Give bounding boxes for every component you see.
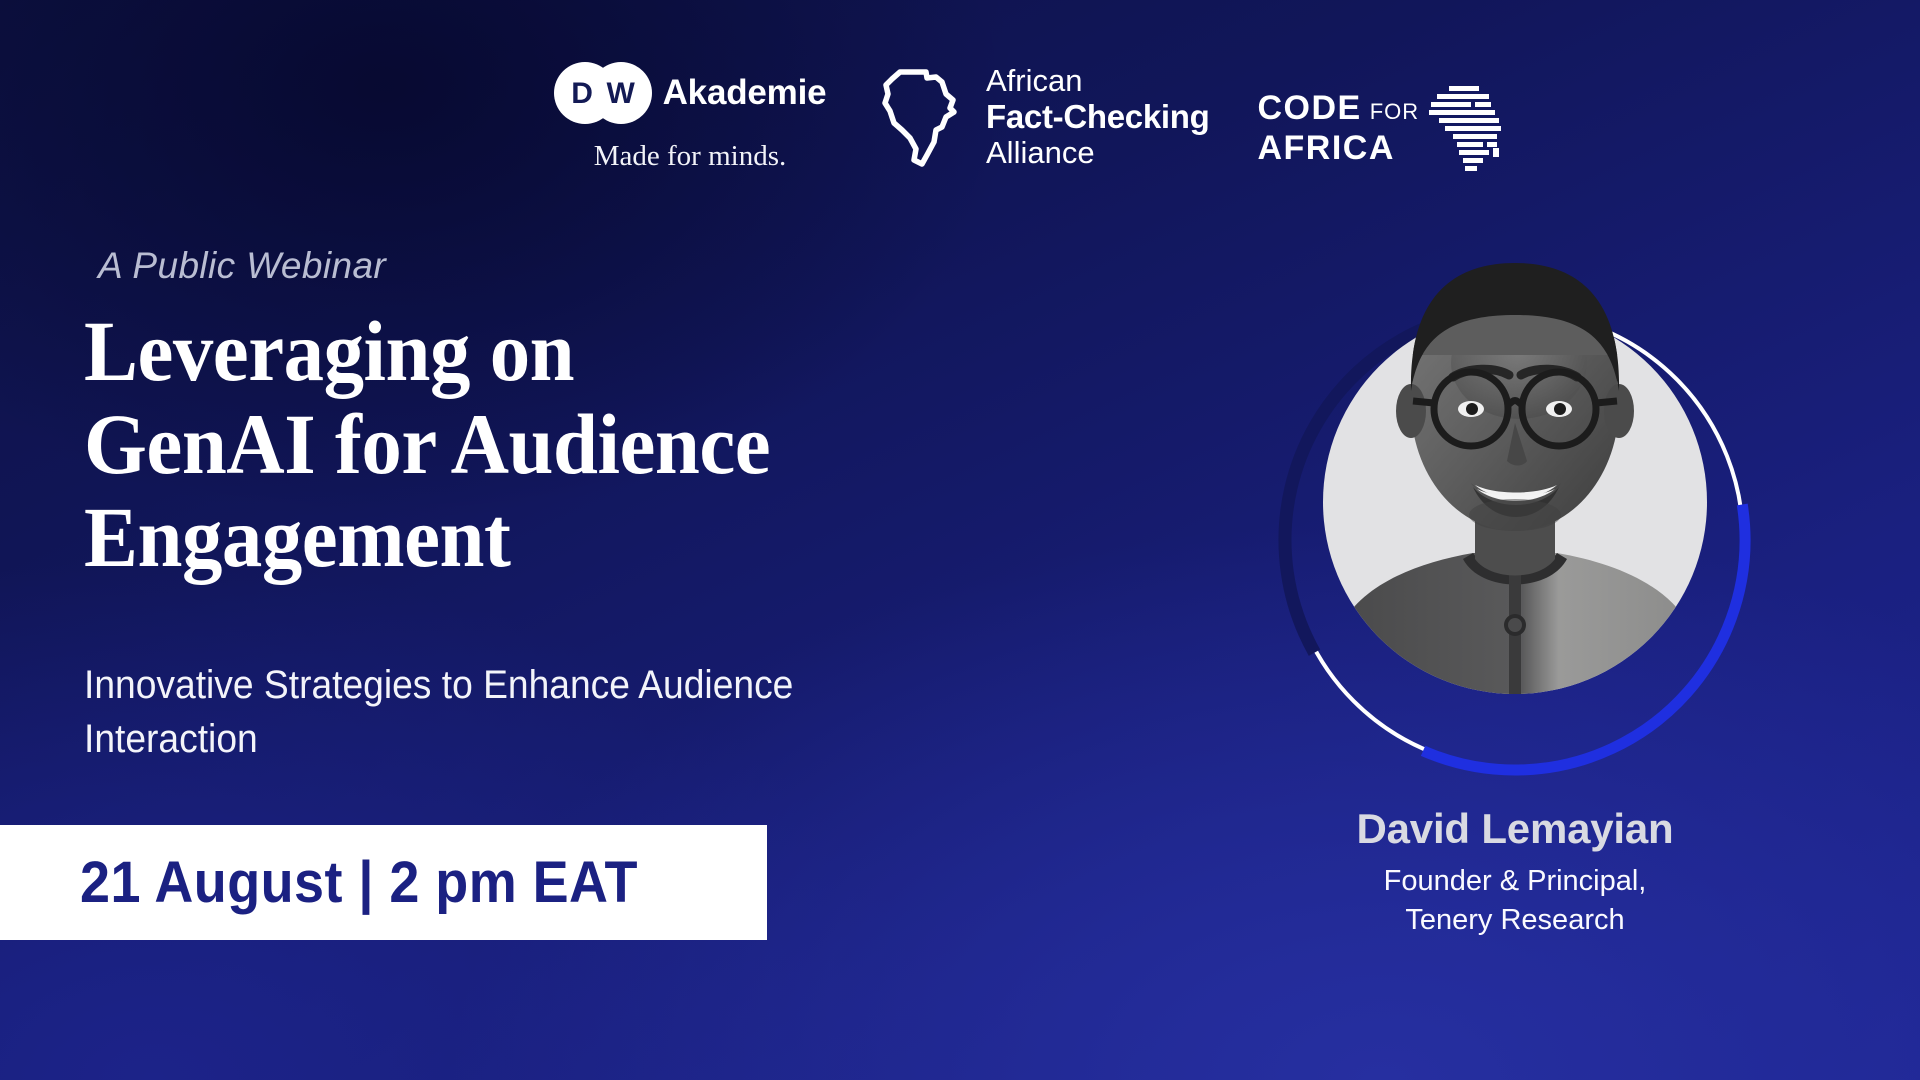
eyebrow-label: A Public Webinar <box>98 245 386 287</box>
cfa-line-1: CODE FOR <box>1257 89 1419 128</box>
speaker-portrait <box>1265 195 1765 755</box>
dw-tagline: Made for minds. <box>540 140 840 173</box>
headline-line-3: Engagement <box>84 491 1024 584</box>
dw-wordmark: Akademie <box>663 73 827 113</box>
dw-akademie-logo: D W Akademie Made for minds. <box>540 56 840 173</box>
afca-line-3: Alliance <box>986 136 1209 171</box>
date-time-banner: 21 August | 2 pm EAT <box>0 825 767 940</box>
headline-line-1: Leveraging on <box>84 305 1024 398</box>
afca-text-block: African Fact-Checking Alliance <box>986 64 1209 170</box>
cfa-code-word: CODE <box>1257 89 1361 128</box>
page-subtitle: Innovative Strategies to Enhance Audienc… <box>84 658 921 766</box>
portrait-hair-overflow <box>1323 155 1707 732</box>
cfa-for-word: FOR <box>1370 99 1419 125</box>
date-time-text: 21 August | 2 pm EAT <box>80 849 638 916</box>
african-fact-checking-alliance-logo: African Fact-Checking Alliance <box>880 56 1209 170</box>
afca-line-1: African <box>986 64 1209 99</box>
page-title: Leveraging on GenAI for Audience Engagem… <box>84 305 1024 584</box>
speaker-role: Founder & Principal, Tenery Research <box>1265 862 1765 940</box>
speaker-role-line-1: Founder & Principal, <box>1265 862 1765 901</box>
speaker-role-line-2: Tenery Research <box>1265 901 1765 940</box>
webinar-poster: D W Akademie Made for minds. African Fac… <box>0 0 1920 1080</box>
dw-circles-icon: D W <box>554 62 652 124</box>
dw-letter-w: W <box>604 79 638 108</box>
headline-line-2: GenAI for Audience <box>84 398 1024 491</box>
subtitle-line-2: Interaction <box>84 712 921 766</box>
afca-line-2: Fact-Checking <box>986 99 1209 136</box>
africa-outline-icon <box>880 67 972 167</box>
subtitle-line-1: Innovative Strategies to Enhance Audienc… <box>84 658 921 712</box>
portrait-photo-clip <box>1323 155 1707 732</box>
dw-letter-d: D <box>568 79 597 108</box>
speaker-name: David Lemayian <box>1265 805 1765 853</box>
dw-logo-main: D W Akademie <box>540 62 840 124</box>
